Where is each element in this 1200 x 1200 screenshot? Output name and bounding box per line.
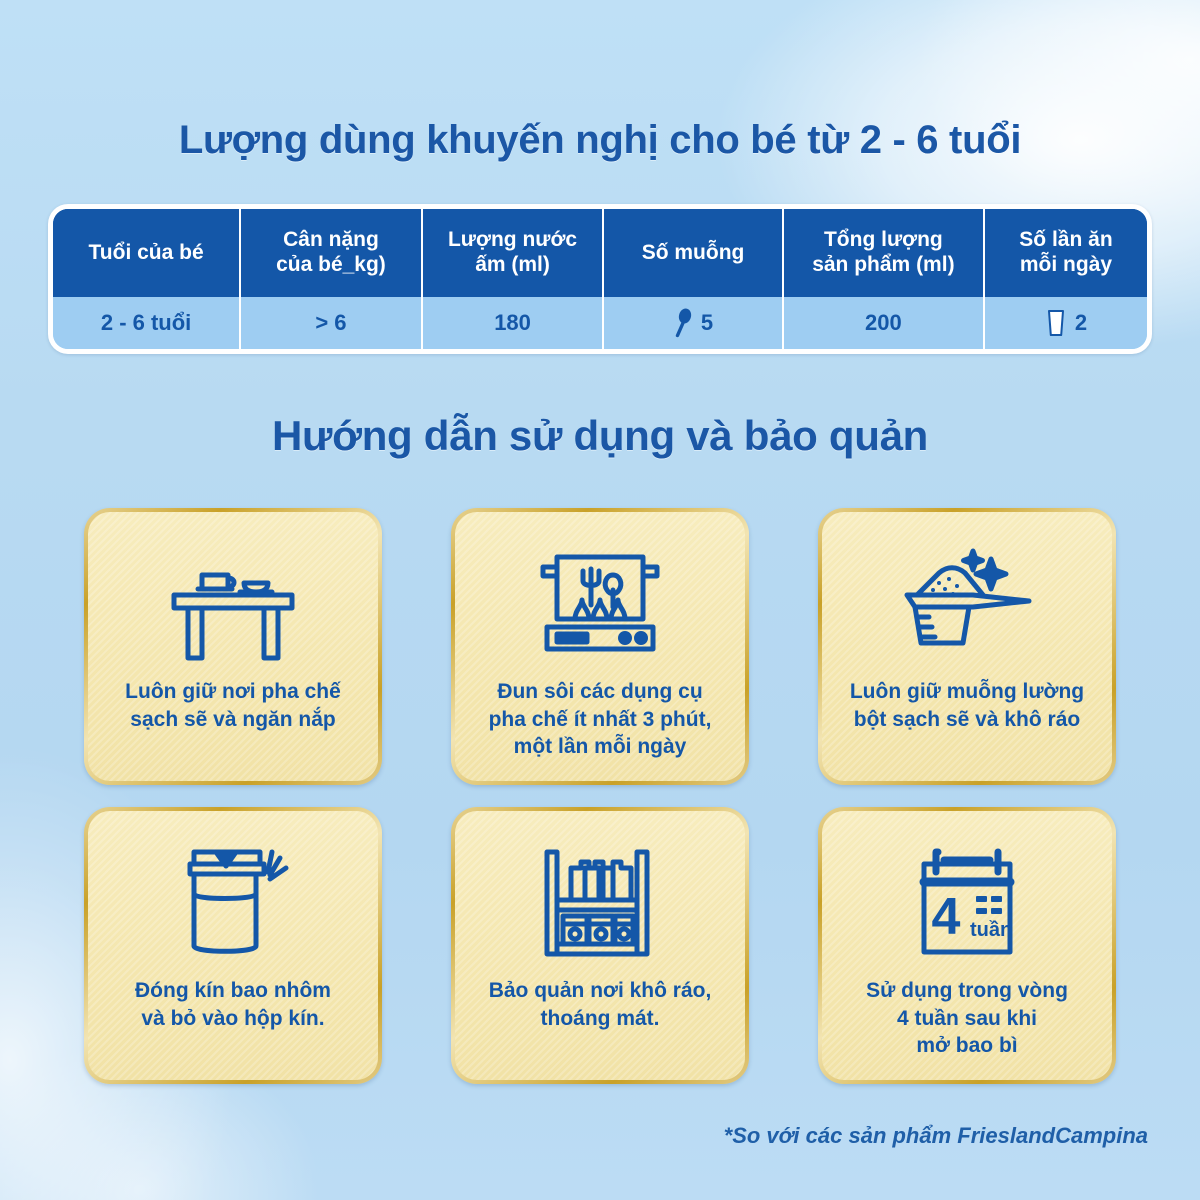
instruction-card-seal-pouch[interactable]: Đóng kín bao nhôm và bỏ vào hộp kín. <box>84 807 382 1084</box>
footnote-text: *So với các sản phẩm FrieslandCampina <box>724 1123 1148 1149</box>
table-cell-scoops: 5 <box>604 297 783 349</box>
table-header-cell-scoops: Số muỗng <box>604 209 783 297</box>
instruction-card-row-1: Luôn giữ nơi pha chế sạch sẽ và ngăn nắp <box>84 508 1116 785</box>
page-title-instructions: Hướng dẫn sử dụng và bảo quản <box>0 412 1200 460</box>
table-row: 2 - 6 tuổi > 6 180 5 200 <box>53 297 1147 349</box>
instruction-card-label: Đóng kín bao nhôm và bỏ vào hộp kín. <box>121 977 345 1032</box>
table-cell-age: 2 - 6 tuổi <box>53 297 241 349</box>
page-title-dosage: Lượng dùng khuyến nghị cho bé từ 2 - 6 t… <box>0 118 1200 163</box>
sealed-foil-pouch-icon <box>88 829 378 977</box>
measuring-scoop-sparkle-icon <box>822 530 1112 678</box>
calendar-number: 4 <box>932 888 961 946</box>
table-cell-water: 180 <box>423 297 605 349</box>
table-cell-scoops-value: 5 <box>701 310 713 336</box>
instruction-card-boil-utensils[interactable]: Đun sôi các dụng cụ pha chế ít nhất 3 ph… <box>451 508 749 785</box>
dosage-table: Tuổi của bé Cân nặngcủa bé_kg) Lượng nướ… <box>48 204 1152 354</box>
calendar-unit: tuần <box>970 919 1012 941</box>
instruction-card-label: Luôn giữ nơi pha chế sạch sẽ và ngăn nắp <box>111 678 355 733</box>
storage-shelf-icon <box>455 829 745 977</box>
instruction-card-clean-scoop[interactable]: Luôn giữ muỗng lường bột sạch sẽ và khô … <box>818 508 1116 785</box>
table-header-cell-water: Lượng nướcấm (ml) <box>423 209 605 297</box>
table-cell-total: 200 <box>784 297 985 349</box>
instruction-card-label: Luôn giữ muỗng lường bột sạch sẽ và khô … <box>836 678 1098 733</box>
instruction-card-clean-area[interactable]: Luôn giữ nơi pha chế sạch sẽ và ngăn nắp <box>84 508 382 785</box>
table-header-cell-feeds: Số lần ănmỗi ngày <box>985 209 1147 297</box>
calendar-4-weeks-icon: 4 tuần <box>822 829 1112 977</box>
table-cell-feeds: 2 <box>985 297 1147 349</box>
table-header-cell-total: Tổng lượngsản phẩm (ml) <box>784 209 985 297</box>
instruction-card-row-2: Đóng kín bao nhôm và bỏ vào hộp kín. <box>84 807 1116 1084</box>
spoon-icon <box>673 308 693 338</box>
table-with-cup-and-bowl-icon <box>88 530 378 678</box>
glass-icon <box>1045 308 1067 338</box>
instruction-card-store-dry[interactable]: Bảo quản nơi khô ráo, thoáng mát. <box>451 807 749 1084</box>
instruction-card-grid: Luôn giữ nơi pha chế sạch sẽ và ngăn nắp <box>84 508 1116 1106</box>
instruction-card-use-within-4-weeks[interactable]: 4 tuần Sử dụng trong vòng 4 tuần sau khi… <box>818 807 1116 1084</box>
instruction-card-label: Bảo quản nơi khô ráo, thoáng mát. <box>475 977 726 1032</box>
table-header-row: Tuổi của bé Cân nặngcủa bé_kg) Lượng nướ… <box>53 209 1147 297</box>
boiling-pot-on-stove-icon <box>455 530 745 678</box>
instruction-card-label: Sử dụng trong vòng 4 tuần sau khi mở bao… <box>852 977 1082 1060</box>
table-cell-weight: > 6 <box>241 297 423 349</box>
page-root: Lượng dùng khuyến nghị cho bé từ 2 - 6 t… <box>0 0 1200 1200</box>
table-header-cell-age: Tuổi của bé <box>53 209 241 297</box>
instruction-card-label: Đun sôi các dụng cụ pha chế ít nhất 3 ph… <box>475 678 726 761</box>
table-header-cell-weight: Cân nặngcủa bé_kg) <box>241 209 423 297</box>
table-cell-feeds-value: 2 <box>1075 310 1087 336</box>
